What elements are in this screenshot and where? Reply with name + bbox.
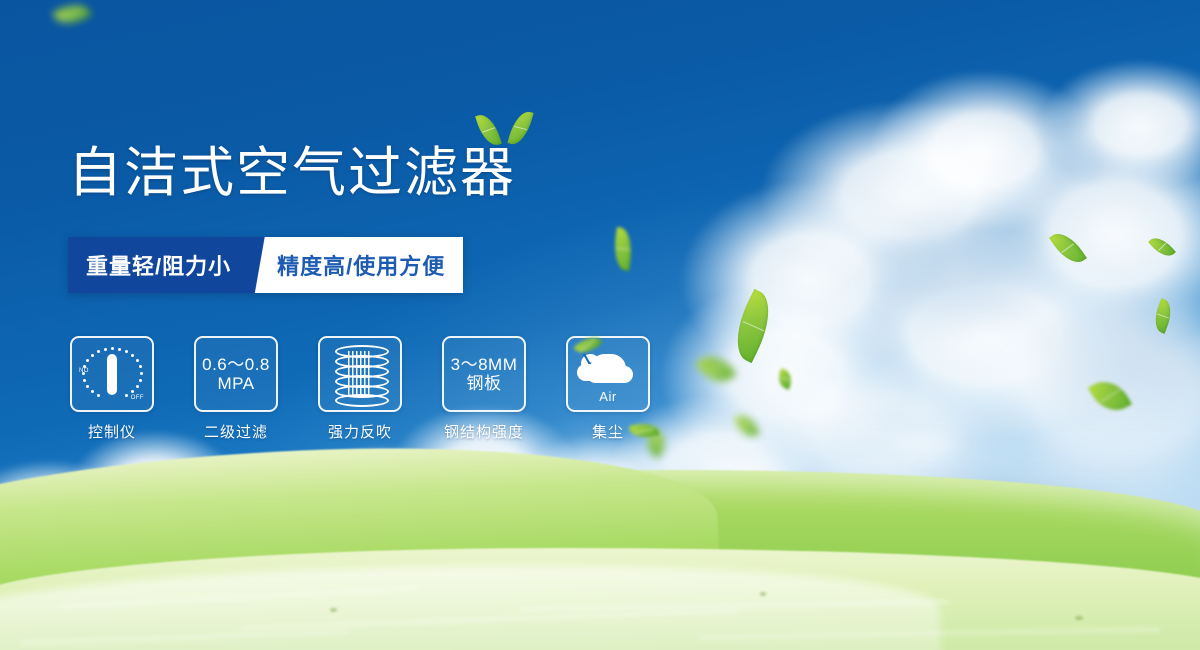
- grass-speck: [330, 608, 337, 612]
- steel-material: 钢板: [451, 374, 518, 393]
- page-title: 自洁式空气过滤器: [68, 142, 516, 204]
- subtitle-divider: [251, 237, 273, 293]
- feature-box: 0.6〜0.8 MPA: [194, 336, 278, 412]
- feature-item-steel-strength[interactable]: 3〜8MM 钢板 钢结构强度: [440, 336, 528, 442]
- feature-label: 控制仪: [88, 421, 136, 442]
- cloud-wisp-2: [880, 430, 970, 456]
- feature-label: 集尘: [592, 421, 624, 442]
- gauge-label-off: OFF: [131, 395, 144, 401]
- feature-label: 强力反吹: [328, 421, 392, 442]
- feature-item-back-blow[interactable]: 强力反吹: [316, 336, 404, 442]
- filter-cartridge-icon: [335, 345, 385, 403]
- feature-box: [318, 336, 402, 412]
- product-banner: 自洁式空气过滤器 重量轻/阻力小 精度高/使用方便: [0, 0, 1200, 650]
- gauge-dial-icon: NO OFF: [80, 345, 144, 403]
- pressure-text-icon: 0.6〜0.8 MPA: [202, 355, 270, 393]
- air-label: Air: [577, 389, 639, 404]
- pressure-value: 0.6〜0.8: [202, 355, 270, 374]
- feature-box: 3〜8MM 钢板: [442, 336, 526, 412]
- feature-label: 钢结构强度: [444, 421, 524, 442]
- subtitle-bar: 重量轻/阻力小 精度高/使用方便: [68, 237, 463, 293]
- gauge-needle: [107, 354, 117, 395]
- grass-speck: [760, 592, 766, 596]
- grass-speck: [1075, 616, 1083, 620]
- feature-list: NO OFF 控制仪 0.6〜0.8 MPA 二级过滤: [68, 336, 652, 442]
- gauge-label-on: NO: [79, 368, 89, 374]
- feature-item-control-panel[interactable]: NO OFF 控制仪: [68, 336, 156, 442]
- steel-thickness: 3〜8MM: [451, 355, 518, 374]
- subtitle-right-text: 精度高/使用方便: [273, 237, 463, 293]
- cloud-air-icon: Air: [577, 346, 639, 402]
- feature-box: NO OFF: [70, 336, 154, 412]
- pressure-unit: MPA: [202, 374, 270, 393]
- subtitle-left-text: 重量轻/阻力小: [68, 237, 251, 293]
- feature-label: 二级过滤: [204, 421, 268, 442]
- steel-plate-text-icon: 3〜8MM 钢板: [451, 355, 518, 393]
- feature-item-secondary-filter[interactable]: 0.6〜0.8 MPA 二级过滤: [192, 336, 280, 442]
